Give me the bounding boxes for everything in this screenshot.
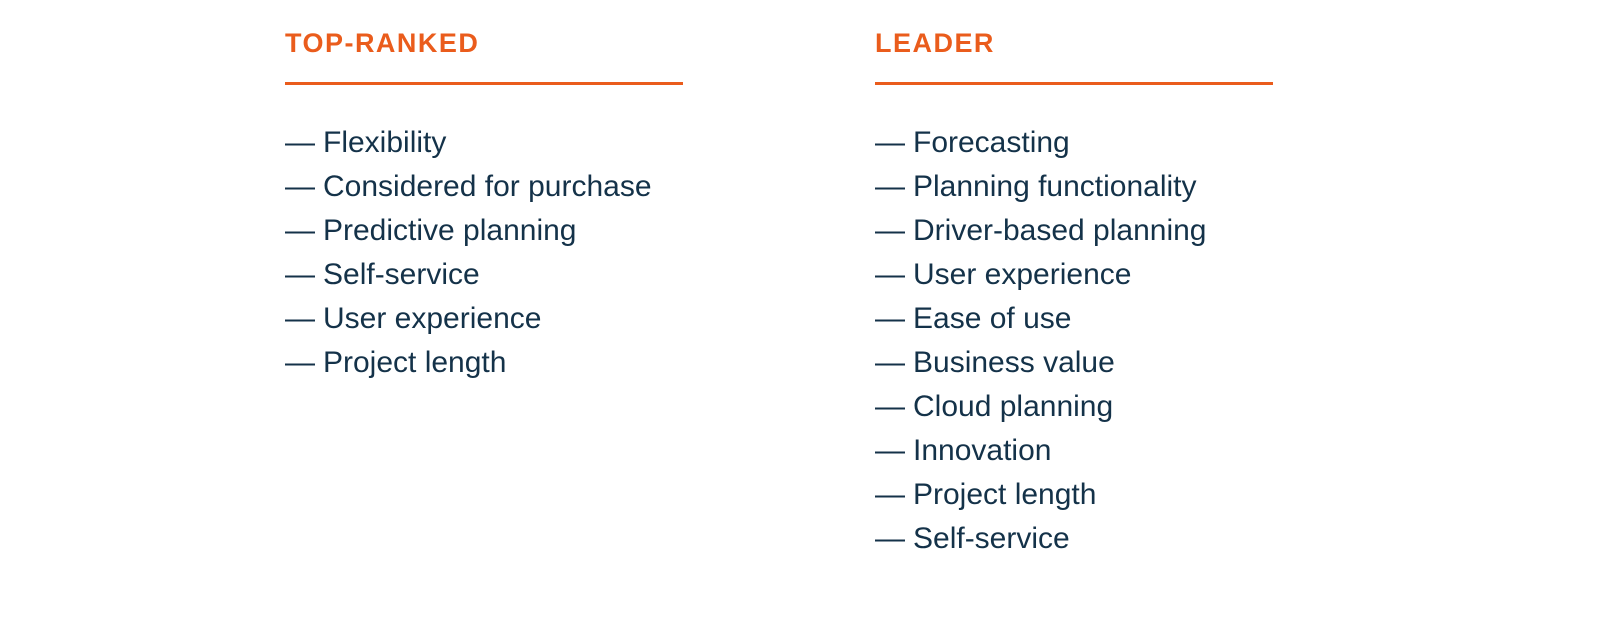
list-item-label: Driver-based planning (913, 214, 1207, 247)
heading-rule-top-ranked (285, 82, 683, 85)
list-item: —Innovation (875, 429, 1475, 473)
two-column-highlights-board: TOP-RANKED —Flexibility —Considered for … (0, 0, 1600, 634)
em-dash-icon: — (875, 517, 913, 561)
em-dash-icon: — (875, 209, 913, 253)
column-heading-top-ranked: TOP-RANKED (285, 30, 885, 57)
list-item-label: Self-service (913, 522, 1070, 555)
em-dash-icon: — (875, 253, 913, 297)
list-item: —Cloud planning (875, 385, 1475, 429)
list-item: —Driver-based planning (875, 209, 1475, 253)
em-dash-icon: — (875, 341, 913, 385)
list-item-label: User experience (323, 302, 541, 335)
em-dash-icon: — (285, 253, 323, 297)
column-leader: LEADER —Forecasting —Planning functional… (875, 30, 1475, 561)
list-item-label: Ease of use (913, 302, 1071, 335)
list-item: —Predictive planning (285, 209, 885, 253)
em-dash-icon: — (285, 341, 323, 385)
column-top-ranked: TOP-RANKED —Flexibility —Considered for … (285, 30, 885, 385)
list-item-label: Business value (913, 346, 1115, 379)
em-dash-icon: — (875, 297, 913, 341)
list-item-label: Flexibility (323, 126, 446, 159)
list-item-label: Self-service (323, 258, 480, 291)
em-dash-icon: — (875, 473, 913, 517)
list-item: —Flexibility (285, 121, 885, 165)
list-item-label: Project length (913, 478, 1096, 511)
list-item: —User experience (285, 297, 885, 341)
list-item-label: Cloud planning (913, 390, 1113, 423)
column-heading-leader: LEADER (875, 30, 1475, 57)
item-list-leader: —Forecasting —Planning functionality —Dr… (875, 121, 1475, 561)
em-dash-icon: — (875, 121, 913, 165)
list-item: —User experience (875, 253, 1475, 297)
em-dash-icon: — (285, 165, 323, 209)
list-item-label: Considered for purchase (323, 170, 652, 203)
list-item: —Self-service (875, 517, 1475, 561)
list-item-label: User experience (913, 258, 1131, 291)
list-item: —Project length (875, 473, 1475, 517)
em-dash-icon: — (875, 429, 913, 473)
list-item: —Ease of use (875, 297, 1475, 341)
em-dash-icon: — (285, 121, 323, 165)
em-dash-icon: — (285, 297, 323, 341)
list-item-label: Predictive planning (323, 214, 577, 247)
list-item: —Planning functionality (875, 165, 1475, 209)
em-dash-icon: — (285, 209, 323, 253)
em-dash-icon: — (875, 165, 913, 209)
list-item: —Considered for purchase (285, 165, 885, 209)
list-item: —Self-service (285, 253, 885, 297)
list-item-label: Project length (323, 346, 506, 379)
list-item-label: Forecasting (913, 126, 1070, 159)
list-item: —Project length (285, 341, 885, 385)
item-list-top-ranked: —Flexibility —Considered for purchase —P… (285, 121, 885, 385)
list-item: —Forecasting (875, 121, 1475, 165)
list-item: —Business value (875, 341, 1475, 385)
list-item-label: Innovation (913, 434, 1051, 467)
list-item-label: Planning functionality (913, 170, 1197, 203)
heading-rule-leader (875, 82, 1273, 85)
em-dash-icon: — (875, 385, 913, 429)
